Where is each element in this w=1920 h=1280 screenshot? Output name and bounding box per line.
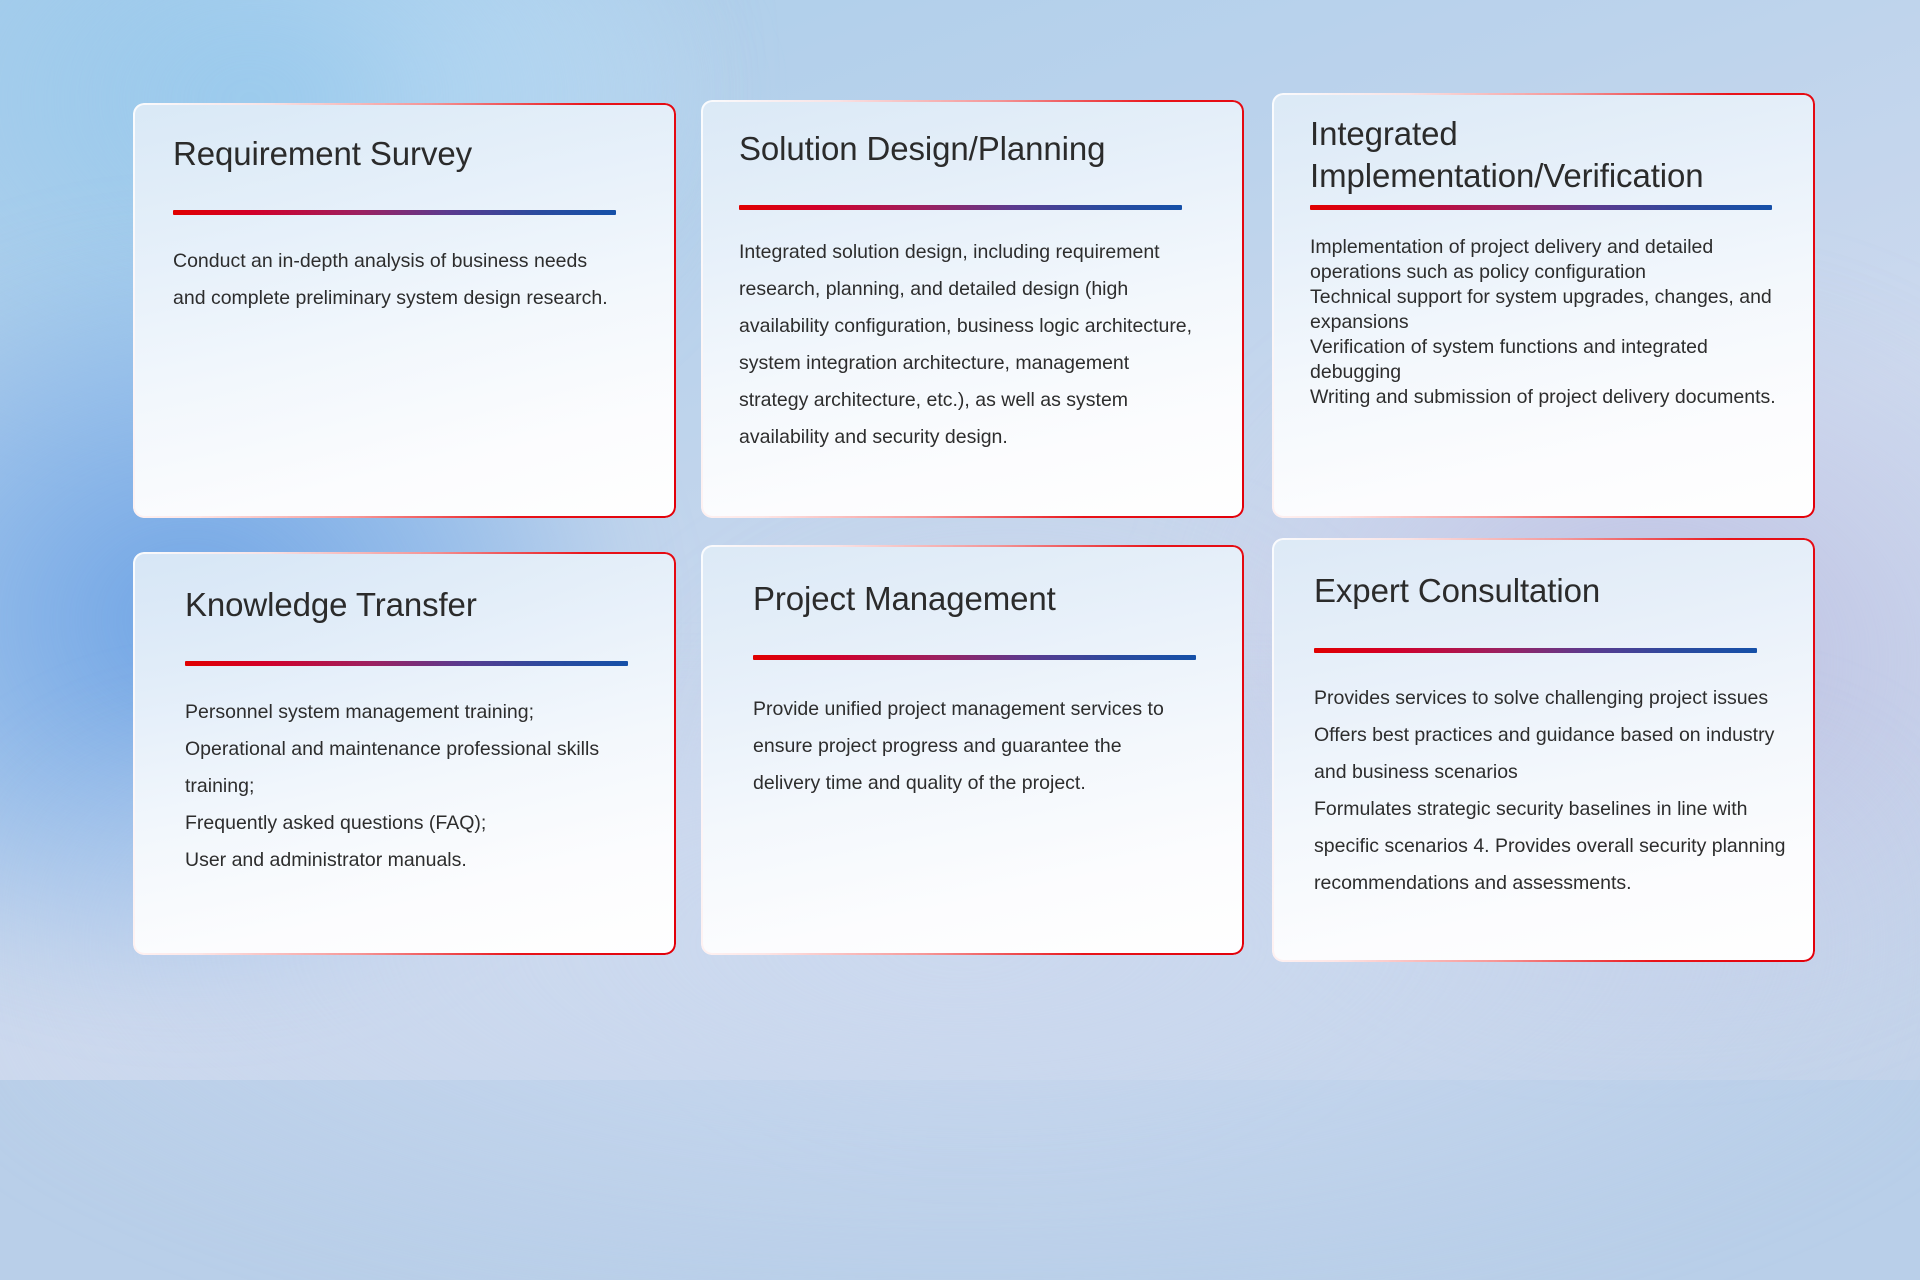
service-card-expert-consultation[interactable]: Expert Consultation Provides services to… — [1272, 538, 1815, 962]
card-body-text: Personnel system management training; Op… — [185, 694, 635, 879]
service-card-knowledge-transfer[interactable]: Knowledge Transfer Personnel system mana… — [133, 552, 676, 955]
card-divider-bar — [173, 210, 616, 215]
card-title: Integrated Implementation/Verification — [1310, 113, 1704, 197]
card-divider-bar — [1310, 205, 1772, 210]
card-title: Project Management — [753, 578, 1056, 620]
card-body-text: Implementation of project delivery and d… — [1310, 235, 1788, 410]
service-card-solution-design-planning[interactable]: Solution Design/Planning Integrated solu… — [701, 100, 1244, 518]
card-title: Knowledge Transfer — [185, 584, 477, 626]
card-divider-bar — [185, 661, 628, 666]
card-divider-bar — [739, 205, 1182, 210]
card-body-text: Integrated solution design, including re… — [739, 234, 1194, 456]
card-body-text: Conduct an in-depth analysis of business… — [173, 243, 613, 317]
card-body-text: Provide unified project management servi… — [753, 691, 1193, 802]
service-card-integrated-implementation-verification[interactable]: Integrated Implementation/Verification I… — [1272, 93, 1815, 518]
card-divider-bar — [753, 655, 1196, 660]
card-divider-bar — [1314, 648, 1757, 653]
card-title: Requirement Survey — [173, 133, 472, 175]
card-title: Expert Consultation — [1314, 570, 1600, 612]
service-card-project-management[interactable]: Project Management Provide unified proje… — [701, 545, 1244, 955]
service-card-requirement-survey[interactable]: Requirement Survey Conduct an in-depth a… — [133, 103, 676, 518]
card-body-text: Provides services to solve challenging p… — [1314, 680, 1794, 902]
card-title: Solution Design/Planning — [739, 128, 1105, 170]
service-card-grid: Requirement Survey Conduct an in-depth a… — [0, 0, 1920, 1080]
